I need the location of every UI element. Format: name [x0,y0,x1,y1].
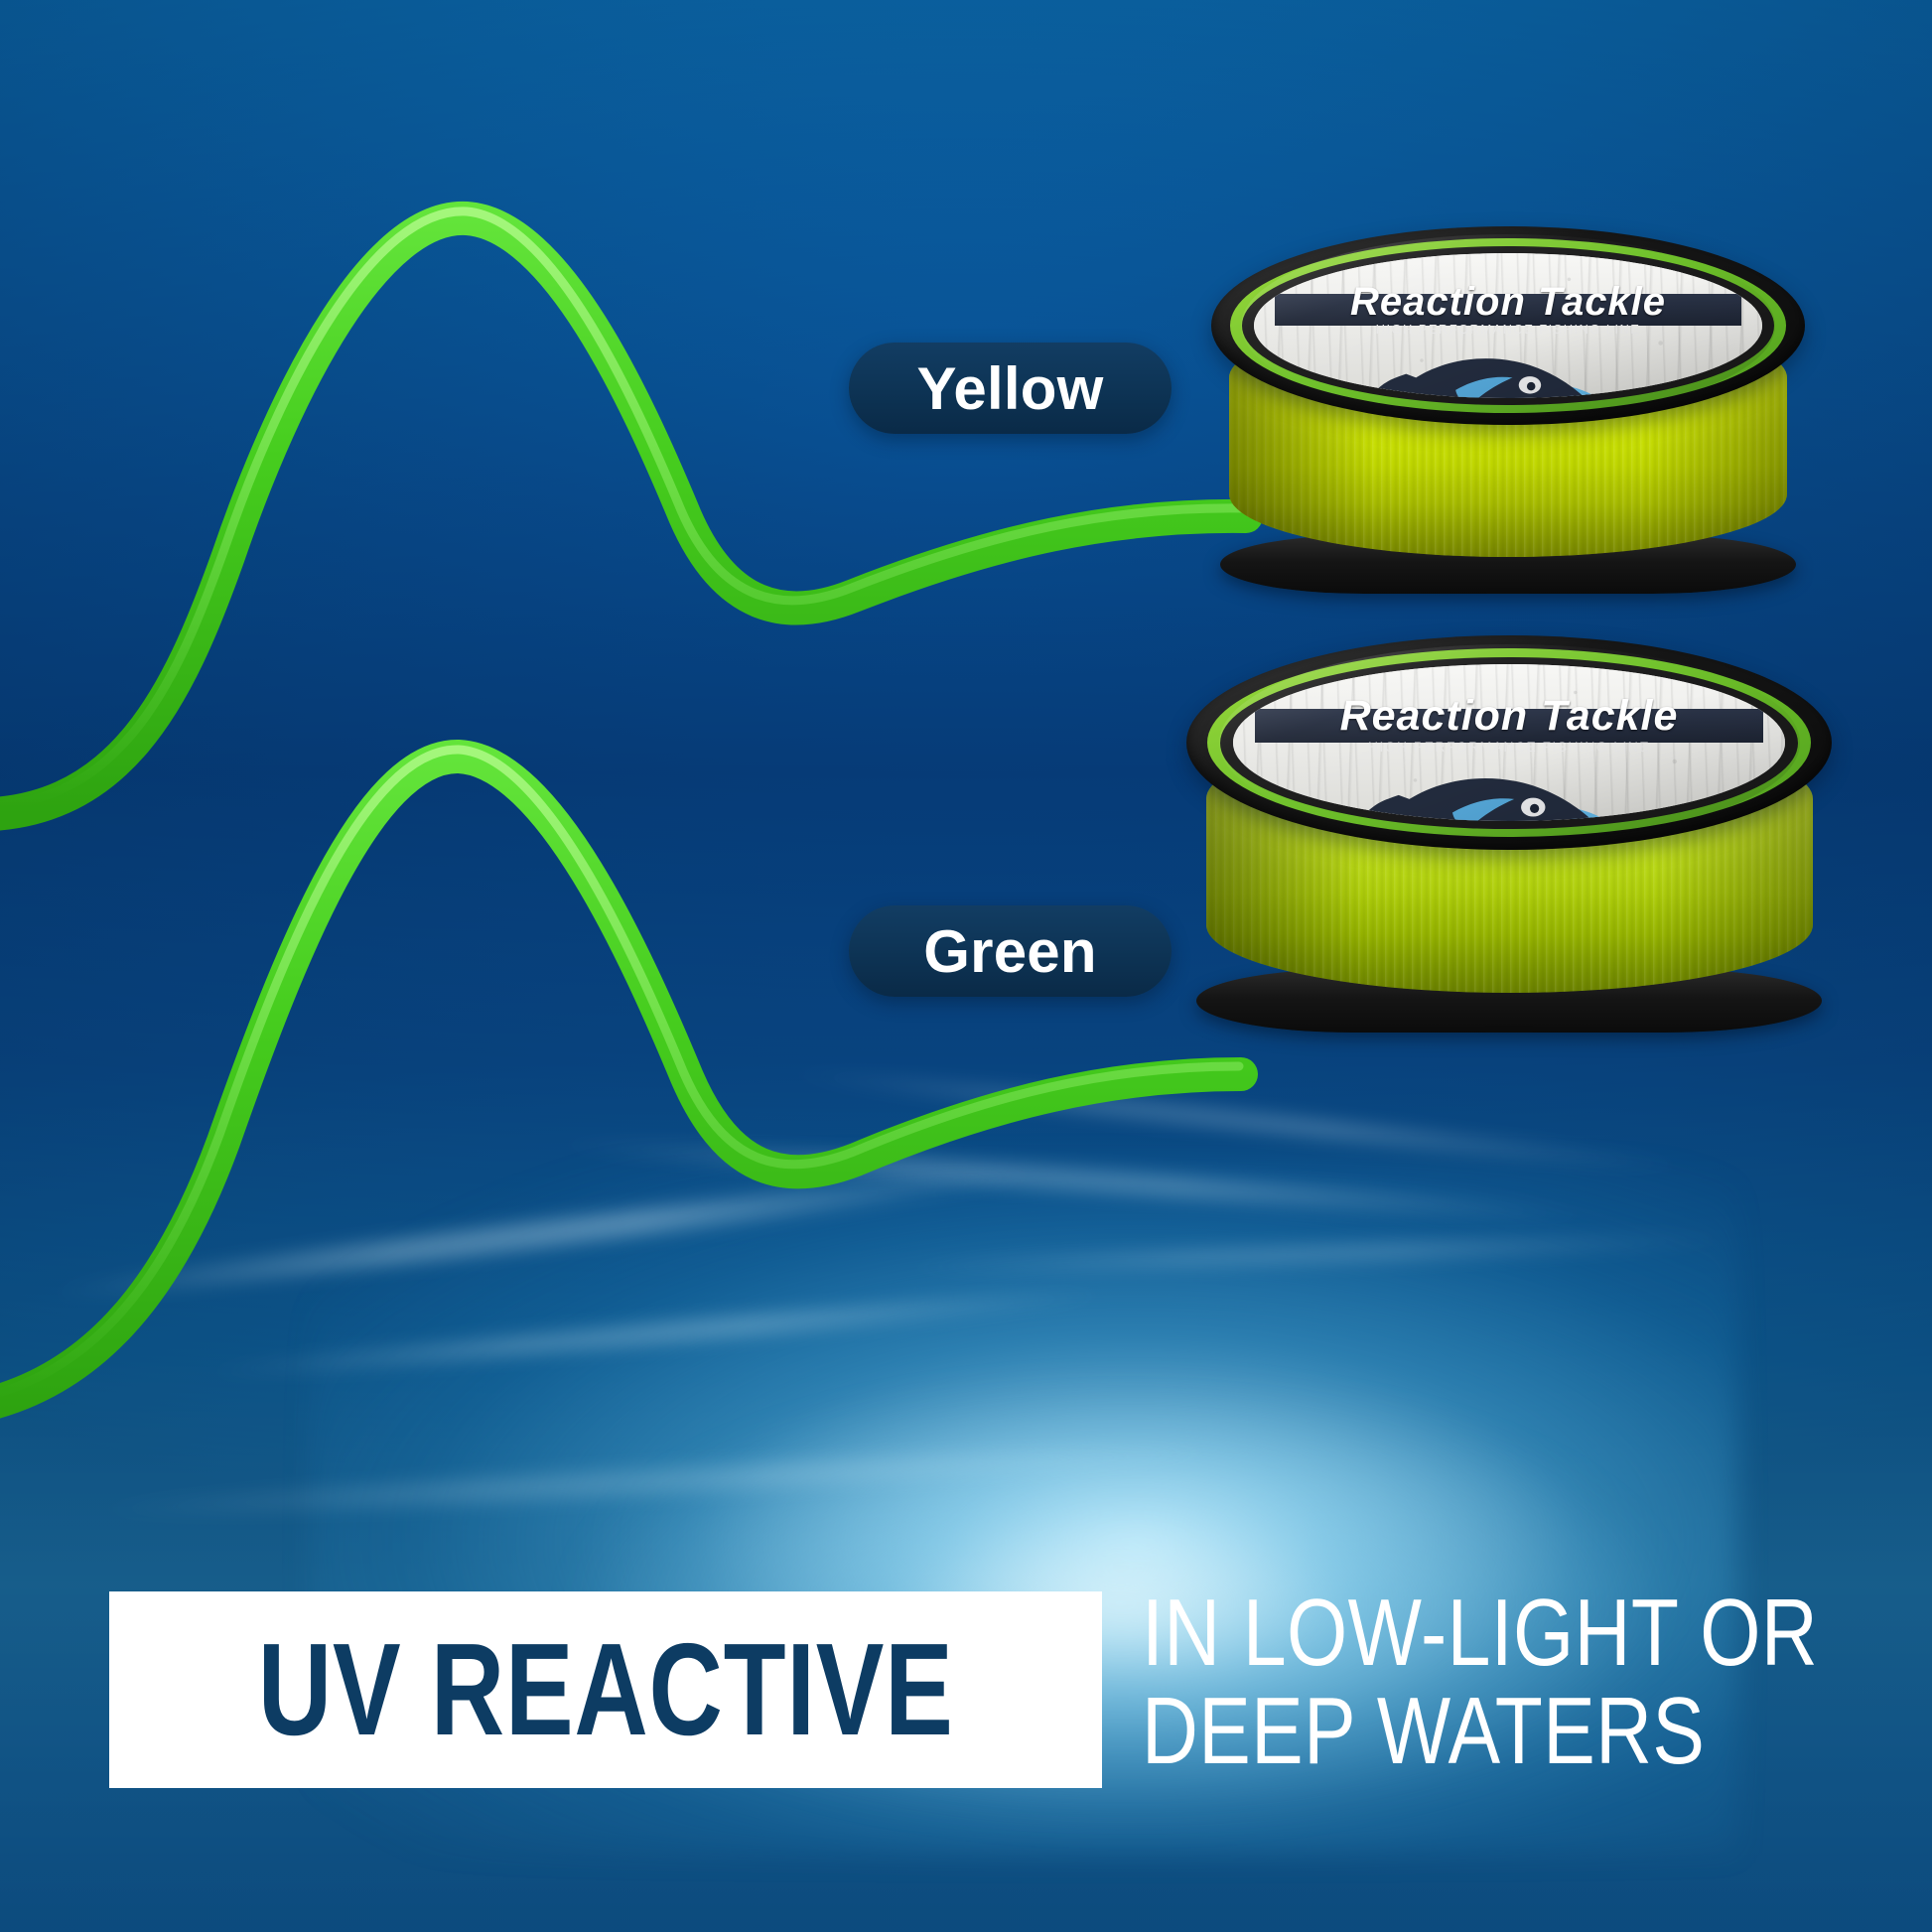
headline-subtext: IN LOW-LIGHT OR DEEP WATERS [1142,1585,1896,1781]
leaping-bass-fish-icon [1310,326,1706,398]
headline-subtext-line-1: IN LOW-LIGHT OR [1142,1585,1760,1683]
fish-logo-wrap [1310,326,1706,398]
spool-body: Reaction Tackle HIGH PERFORMANCE FISHING… [1211,226,1805,594]
spool-green-ring: Reaction Tackle HIGH PERFORMANCE FISHING… [1207,648,1811,837]
yellow-line-strand [0,211,1246,815]
spool-inner-rim: Reaction Tackle HIGH PERFORMANCE FISHING… [1242,246,1773,405]
fish-logo-wrap [1294,743,1725,820]
spool-notch [1485,588,1531,594]
leaping-bass-fish-icon [1294,743,1725,820]
spool-body: Reaction Tackle HIGH PERFORMANCE FISHING… [1186,635,1832,1033]
spool-notch [1484,1026,1534,1032]
spool-top-disc: Reaction Tackle HIGH PERFORMANCE FISHING… [1211,226,1805,425]
product-marketing-banner: Yellow Green [0,0,1932,1932]
color-label-green-text: Green [923,917,1096,986]
spool-top-disc: Reaction Tackle HIGH PERFORMANCE FISHING… [1186,635,1832,850]
headline-emphasis-text: UV REACTIVE [258,1624,954,1755]
brand-banner: Reaction Tackle HIGH PERFORMANCE FISHING… [1275,294,1742,326]
headline-subtext-line-2: DEEP WATERS [1142,1683,1760,1781]
color-label-green[interactable]: Green [849,905,1172,997]
color-label-yellow[interactable]: Yellow [849,343,1172,434]
brand-name: Reaction Tackle [1350,282,1666,322]
green-spool[interactable]: Reaction Tackle HIGH PERFORMANCE FISHING… [1186,635,1832,1033]
spool-green-ring: Reaction Tackle HIGH PERFORMANCE FISHING… [1230,238,1786,413]
spool-inner-rim: Reaction Tackle HIGH PERFORMANCE FISHING… [1220,657,1798,829]
headline-emphasis-block: UV REACTIVE [109,1591,1102,1788]
green-line-strand [0,750,1241,1410]
spool-label-yellow: Reaction Tackle HIGH PERFORMANCE FISHING… [1254,253,1762,398]
color-label-yellow-text: Yellow [917,354,1104,423]
brand-banner: Reaction Tackle HIGH PERFORMANCE FISHING… [1255,709,1763,744]
spool-label-green: Reaction Tackle HIGH PERFORMANCE FISHING… [1233,664,1785,820]
brand-name: Reaction Tackle [1340,695,1679,738]
yellow-spool[interactable]: Reaction Tackle HIGH PERFORMANCE FISHING… [1211,226,1805,594]
